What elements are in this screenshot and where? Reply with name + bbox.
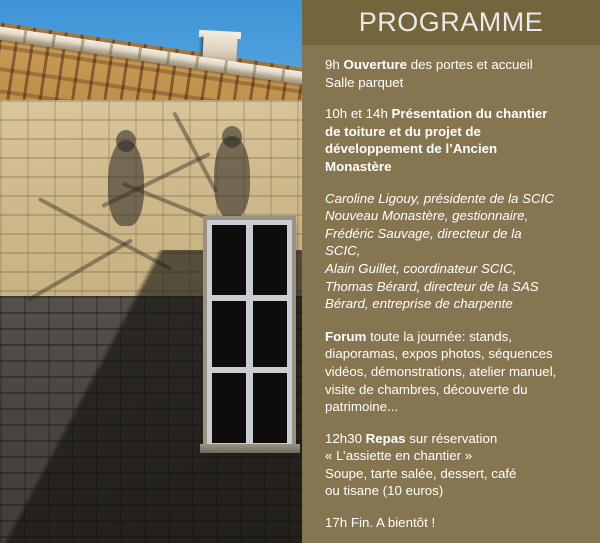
programme-line: 10h et 14h Présentation du chantier (325, 105, 590, 123)
programme-line: patrimoine... (325, 398, 590, 416)
programme-block-presentation: 10h et 14h Présentation du chantierde to… (325, 105, 590, 175)
text-run: Nouveau Monastère, gestionnaire, (325, 208, 528, 223)
text-run: Thomas Bérard, directeur de la SAS (325, 279, 539, 294)
programme-line: Forum toute la journée: stands, (325, 328, 590, 346)
emphasis-text: Ouverture (344, 57, 408, 72)
emphasis-text: Forum (325, 329, 366, 344)
text-run: Frédéric Sauvage, directeur de la (325, 226, 522, 241)
programme-panel: PROGRAMME 9h Ouverture des portes et acc… (302, 0, 600, 543)
text-run: Bérard, entreprise de charpente (325, 296, 513, 311)
programme-line: Caroline Ligouy, présidente de la SCIC (325, 190, 590, 208)
programme-line: « L’assiette en chantier » (325, 447, 590, 465)
programme-line: Monastère (325, 158, 590, 176)
text-run: 12h30 (325, 431, 366, 446)
programme-block-forum: Forum toute la journée: stands,diaporama… (325, 328, 590, 416)
programme-line: Soupe, tarte salée, dessert, café (325, 465, 590, 483)
emphasis-text: Présentation du chantier (392, 106, 548, 121)
programme-line: vidéos, démonstrations, atelier manuel, (325, 363, 590, 381)
programme-line: ou tisane (10 euros) (325, 482, 590, 500)
window-mullion-vertical (246, 225, 253, 443)
programme-content: 9h Ouverture des portes et accueilSalle … (302, 45, 600, 543)
programme-block-fin: 17h Fin. A bientôt ! (325, 514, 590, 532)
programme-line: 17h Fin. A bientôt ! (325, 514, 590, 532)
programme-block-intervenants: Caroline Ligouy, présidente de la SCICNo… (325, 190, 590, 313)
programme-line: de toiture et du projet de (325, 123, 590, 141)
text-run: Soupe, tarte salée, dessert, café (325, 466, 516, 481)
programme-block-repas: 12h30 Repas sur réservation« L’assiette … (325, 430, 590, 500)
programme-line: visite de chambres, découverte du (325, 381, 590, 399)
programme-line: 12h30 Repas sur réservation (325, 430, 590, 448)
window-sill (200, 444, 300, 453)
programme-poster: PROGRAMME 9h Ouverture des portes et acc… (0, 0, 600, 543)
text-run: diaporamas, expos photos, séquences (325, 346, 553, 361)
text-run: sur réservation (406, 431, 498, 446)
text-run: 10h et 14h (325, 106, 392, 121)
text-run: 17h Fin. A bientôt ! (325, 515, 435, 530)
programme-line: SCIC, (325, 242, 590, 260)
six-pane-window (207, 220, 292, 448)
window-mullion-horizontal (212, 295, 287, 301)
emphasis-text: Repas (366, 431, 406, 446)
programme-line: 9h Ouverture des portes et accueil (325, 56, 590, 74)
programme-line: Thomas Bérard, directeur de la SAS (325, 278, 590, 296)
text-run: visite de chambres, découverte du (325, 382, 528, 397)
text-run: patrimoine... (325, 399, 398, 414)
text-run: 9h (325, 57, 344, 72)
page-title: PROGRAMME (359, 9, 544, 36)
text-run: « L’assiette en chantier » (325, 448, 472, 463)
programme-line: Alain Guillet, coordinateur SCIC, (325, 260, 590, 278)
emphasis-text: de toiture et du projet de (325, 124, 481, 139)
emphasis-text: Monastère (325, 159, 392, 174)
programme-line: Frédéric Sauvage, directeur de la (325, 225, 590, 243)
text-run: Salle parquet (325, 75, 403, 90)
window-mullion-horizontal (212, 367, 287, 373)
programme-block-ouverture: 9h Ouverture des portes et accueilSalle … (325, 56, 590, 91)
text-run: ou tisane (10 euros) (325, 483, 443, 498)
programme-header: PROGRAMME (302, 0, 600, 45)
programme-line: Salle parquet (325, 74, 590, 92)
text-run: Caroline Ligouy, présidente de la SCIC (325, 191, 554, 206)
text-run: SCIC, (325, 243, 360, 258)
programme-line: Bérard, entreprise de charpente (325, 295, 590, 313)
programme-line: Nouveau Monastère, gestionnaire, (325, 207, 590, 225)
shadow-figure-body (214, 136, 250, 218)
text-run: toute la journée: stands, (366, 329, 512, 344)
building-photo (0, 0, 302, 543)
programme-line: développement de l’Ancien (325, 140, 590, 158)
text-run: Alain Guillet, coordinateur SCIC, (325, 261, 516, 276)
emphasis-text: développement de l’Ancien (325, 141, 497, 156)
text-run: des portes et accueil (407, 57, 533, 72)
text-run: vidéos, démonstrations, atelier manuel, (325, 364, 556, 379)
programme-line: diaporamas, expos photos, séquences (325, 345, 590, 363)
